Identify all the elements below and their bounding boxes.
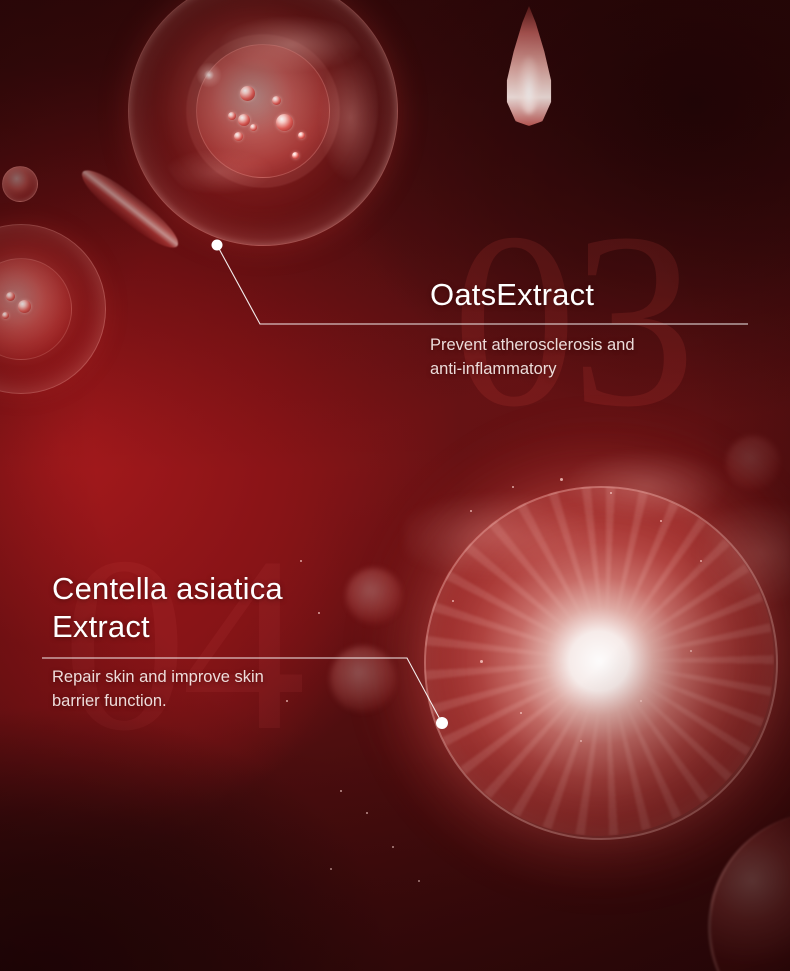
callout-description-oats: Prevent atherosclerosis and anti-inflamm… bbox=[430, 333, 760, 382]
callout-description-centella-line2: barrier function. bbox=[52, 689, 382, 713]
callout-title-centella-line2: Extract bbox=[52, 608, 382, 646]
callout-lines bbox=[0, 0, 790, 971]
callout-dot-centella bbox=[436, 717, 448, 729]
callout-description-centella: Repair skin and improve skin barrier fun… bbox=[52, 665, 382, 714]
callout-title-centella-line1: Centella asiatica bbox=[52, 570, 382, 608]
callout-description-oats-line2: anti-inflammatory bbox=[430, 357, 760, 381]
callout-title-oats: OatsExtract bbox=[430, 276, 760, 314]
callout-block-centella: Centella asiatica Extract Repair skin an… bbox=[52, 570, 382, 713]
callout-title-centella: Centella asiatica Extract bbox=[52, 570, 382, 646]
callout-description-oats-line1: Prevent atherosclerosis and bbox=[430, 333, 760, 357]
callout-block-oats: OatsExtract Prevent atherosclerosis and … bbox=[430, 276, 760, 381]
callout-description-centella-line1: Repair skin and improve skin bbox=[52, 665, 382, 689]
callout-dot-oats bbox=[212, 240, 223, 251]
infographic-canvas: 03 04 bbox=[0, 0, 790, 971]
